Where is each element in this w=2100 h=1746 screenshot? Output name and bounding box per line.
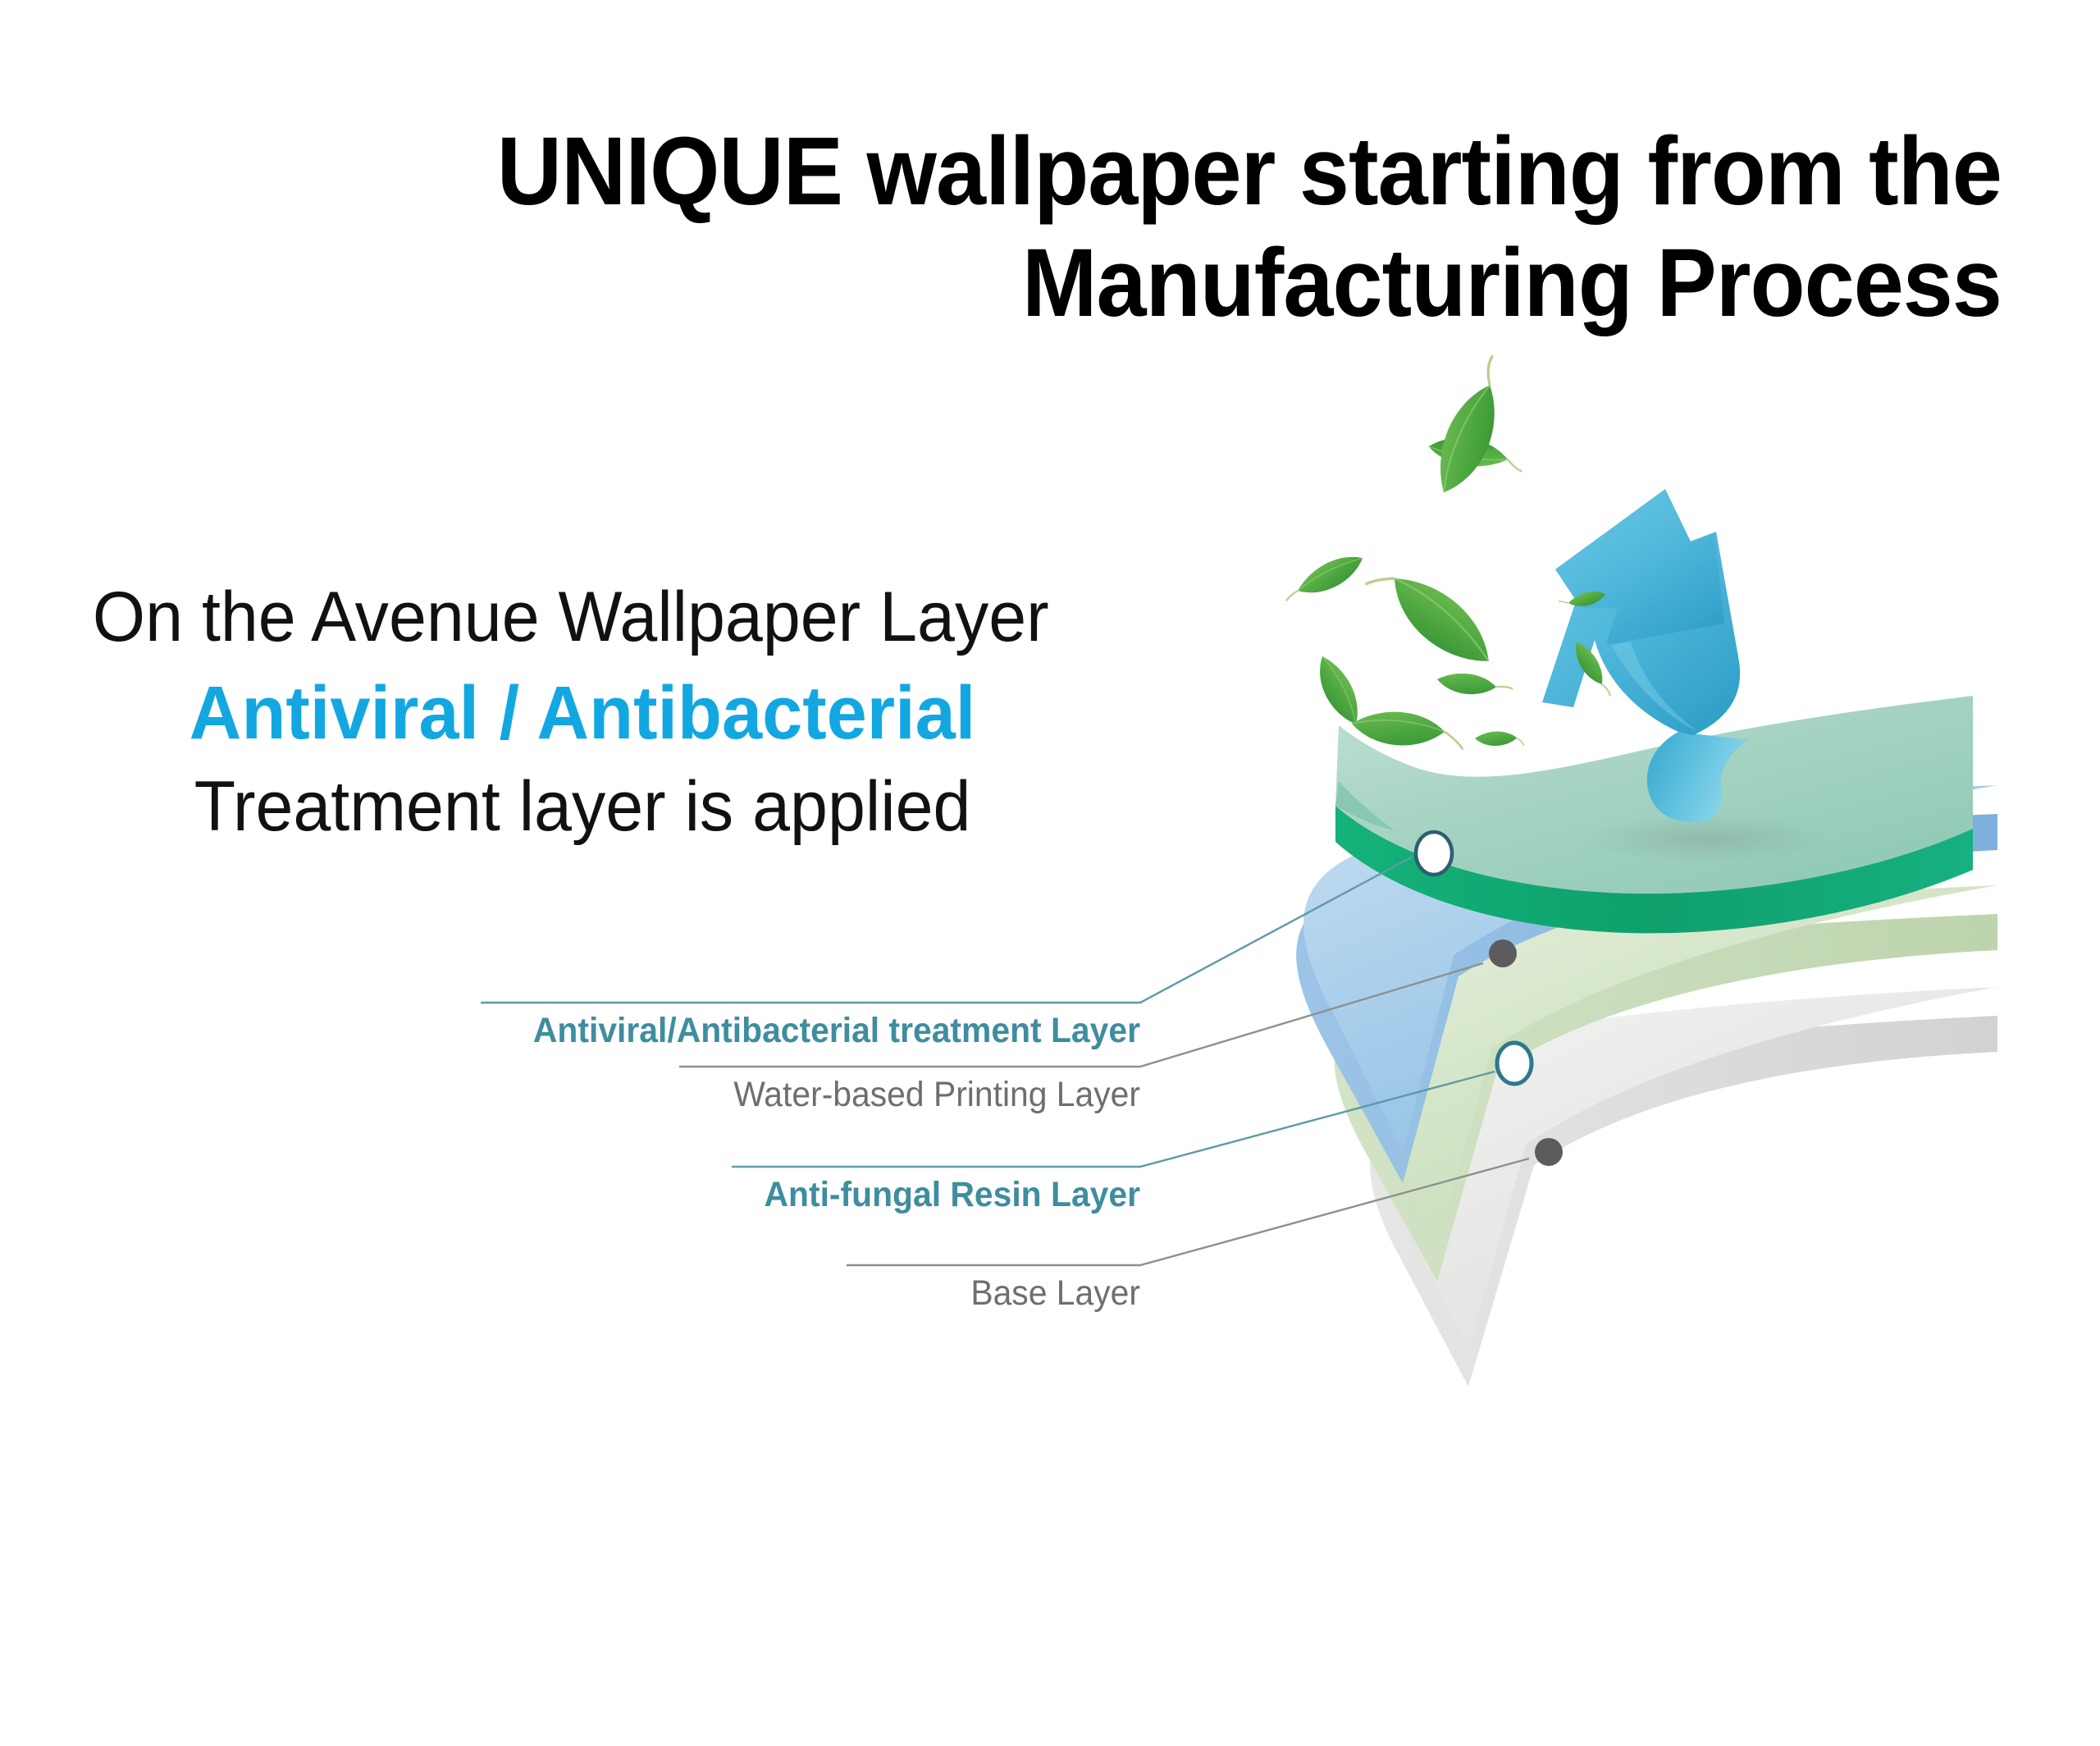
layer-stack-illustration [0,0,2100,1746]
callout-label-anti-fungal-resin-layer[interactable]: Anti-fungal Resin Layer [57,1175,1141,1215]
leader-line-1 [481,857,1413,1003]
marker-dot-printing [1489,939,1517,967]
callout-label-water-based-printing-layer[interactable]: Water-based Printing Layer [57,1075,1141,1115]
callout-label-base-layer[interactable]: Base Layer [57,1273,1141,1314]
marker-dot-base [1535,1138,1563,1166]
marker-hollow-circle-treatment [1416,832,1452,875]
callout-label-antiviral-antibacterial-treatment-layer[interactable]: Antiviral/Antibacterial treatment Layer [57,1011,1141,1051]
marker-hollow-circle-resin [1497,1043,1532,1084]
infographic-canvas: UNIQUE wallpaper starting from the Manuf… [0,0,2100,1746]
